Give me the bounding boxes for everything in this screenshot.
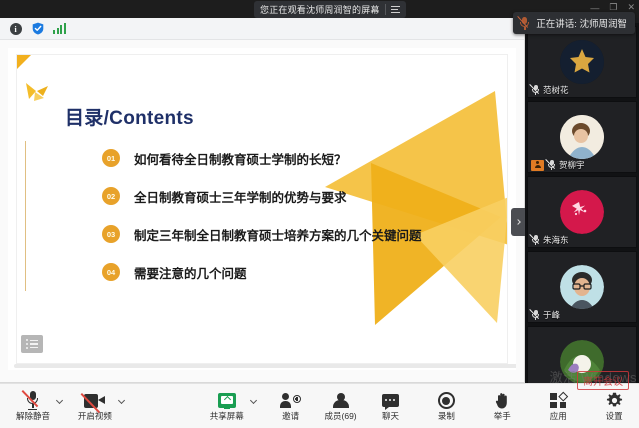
list-item: 04 需要注意的几个问题 <box>102 255 422 289</box>
zoom-meeting-window: 您正在观看沈师周润智的屏幕 — ❐ ✕ 正在讲话: 沈师周润智 i <box>0 0 639 428</box>
shared-screen-toolbar: i <box>0 18 524 40</box>
invite-button[interactable]: 邀请 <box>266 384 316 428</box>
tile-footer: 朱海东 <box>528 233 573 247</box>
hamburger-menu-icon[interactable] <box>391 6 402 14</box>
tile-footer: 于峰 <box>528 308 564 322</box>
active-speaker-toast: 正在讲话: 沈师周润智 <box>513 12 635 34</box>
raise-hand-label: 举手 <box>494 412 511 421</box>
participant-tile[interactable]: 于峰 <box>527 251 637 323</box>
meeting-control-bar: 解除静音 开启视频 共享屏幕 邀请 成 <box>0 383 639 428</box>
shield-icon[interactable] <box>31 22 44 35</box>
chat-button[interactable]: 聊天 <box>366 384 416 428</box>
contents-list: 01 如何看待全日制教育硕士学制的长短？ 02 全日制教育硕士三年学制的优势与要… <box>102 141 422 293</box>
item-number: 01 <box>102 149 120 167</box>
unmute-button[interactable]: 解除静音 <box>8 384 58 428</box>
muted-mic-icon <box>531 310 540 321</box>
shared-screen-area: i <box>0 18 525 383</box>
tile-footer: 范树花 <box>528 83 573 97</box>
chevron-up-icon[interactable] <box>56 396 63 403</box>
chevron-up-icon[interactable] <box>118 396 125 403</box>
muted-mic-icon <box>547 160 556 171</box>
item-text: 全日制教育硕士三年学制的优势与要求 <box>134 187 347 206</box>
participant-name: 于峰 <box>543 309 560 321</box>
collapse-panel-arrow[interactable] <box>511 208 525 236</box>
muted-mic-icon <box>519 17 530 30</box>
participant-tile[interactable]: 范树花 <box>527 26 637 98</box>
item-number: 02 <box>102 187 120 205</box>
list-item: 03 制定三年制全日制教育硕士培养方案的几个关键问题 <box>102 217 422 251</box>
invite-person-icon <box>280 391 301 410</box>
list-item: 02 全日制教育硕士三年学制的优势与要求 <box>102 179 422 213</box>
participant-name: 范树花 <box>543 84 569 96</box>
record-button[interactable]: 录制 <box>421 384 471 428</box>
signal-strength-icon[interactable] <box>53 23 66 34</box>
notice-divider <box>385 4 386 15</box>
screen-share-notice: 您正在观看沈师周润智的屏幕 <box>254 1 406 18</box>
settings-button[interactable]: 设置 <box>589 384 639 428</box>
raise-hand-button[interactable]: 举手 <box>477 384 527 428</box>
avatar <box>560 190 604 234</box>
muted-camera-icon <box>84 391 105 410</box>
participant-tile[interactable]: 朱海东 <box>527 176 637 248</box>
slide-corner-decoration <box>17 55 31 69</box>
slide-scrollbar[interactable] <box>14 364 516 368</box>
avatar <box>560 40 604 84</box>
chevron-right-icon <box>515 219 521 225</box>
apps-grid-icon <box>550 391 566 410</box>
slide-list-icon[interactable] <box>21 335 43 353</box>
participants-rail[interactable]: 范树花 贺柳宇 <box>525 18 639 383</box>
item-text: 需要注意的几个问题 <box>134 263 247 282</box>
gear-icon <box>606 391 623 410</box>
record-circle-icon <box>438 391 455 410</box>
invite-label: 邀请 <box>282 412 299 421</box>
muted-mic-icon <box>531 235 540 246</box>
screen-share-notice-text: 您正在观看沈师周润智的屏幕 <box>260 3 380 16</box>
share-screen-label: 共享屏幕 <box>210 412 244 421</box>
active-speaker-label: 正在讲话: 沈师周润智 <box>536 16 627 30</box>
apps-button[interactable]: 应用 <box>533 384 583 428</box>
raise-hand-icon <box>495 391 510 410</box>
chat-bubble-icon <box>382 391 399 410</box>
tile-footer: 贺柳宇 <box>528 158 589 172</box>
apps-label: 应用 <box>550 412 567 421</box>
info-icon-letter: i <box>10 23 22 35</box>
chat-label: 聊天 <box>382 412 399 421</box>
presentation-slide: 目录/Contents 01 如何看待全日制教育硕士学制的长短？ 02 全日制教… <box>8 48 516 370</box>
settings-label: 设置 <box>606 412 623 421</box>
unmute-label: 解除静音 <box>16 412 50 421</box>
window-minimize-button[interactable]: — <box>590 3 599 13</box>
avatar <box>560 265 604 309</box>
item-number: 04 <box>102 263 120 281</box>
share-screen-button[interactable]: 共享屏幕 <box>202 384 252 428</box>
start-video-label: 开启视频 <box>78 412 112 421</box>
participant-name: 朱海东 <box>543 234 569 246</box>
host-badge <box>531 160 544 171</box>
participants-icon <box>333 391 349 410</box>
list-item: 01 如何看待全日制教育硕士学制的长短？ <box>102 141 422 175</box>
slide-canvas: 目录/Contents 01 如何看待全日制教育硕士学制的长短？ 02 全日制教… <box>16 54 508 364</box>
start-video-button[interactable]: 开启视频 <box>70 384 120 428</box>
share-screen-icon <box>218 391 236 410</box>
participant-tile[interactable]: 贺柳宇 <box>527 101 637 173</box>
ribbon-bow-icon <box>23 79 53 109</box>
item-number: 03 <box>102 225 120 243</box>
contents-connector-line <box>25 141 26 291</box>
participant-name: 贺柳宇 <box>559 159 585 171</box>
chevron-up-icon[interactable] <box>250 396 257 403</box>
participants-label: 成员(69) <box>325 412 357 421</box>
slide-title: 目录/Contents <box>65 103 194 130</box>
muted-mic-icon <box>25 391 40 410</box>
avatar <box>560 115 604 159</box>
record-label: 录制 <box>438 412 455 421</box>
participants-button[interactable]: 成员(69) <box>316 384 366 428</box>
leave-meeting-button[interactable]: 离开会议 <box>577 371 629 390</box>
item-text: 如何看待全日制教育硕士学制的长短？ <box>134 149 347 168</box>
item-text: 制定三年制全日制教育硕士培养方案的几个关键问题 <box>134 225 422 244</box>
info-icon[interactable]: i <box>9 22 22 35</box>
muted-mic-icon <box>531 85 540 96</box>
